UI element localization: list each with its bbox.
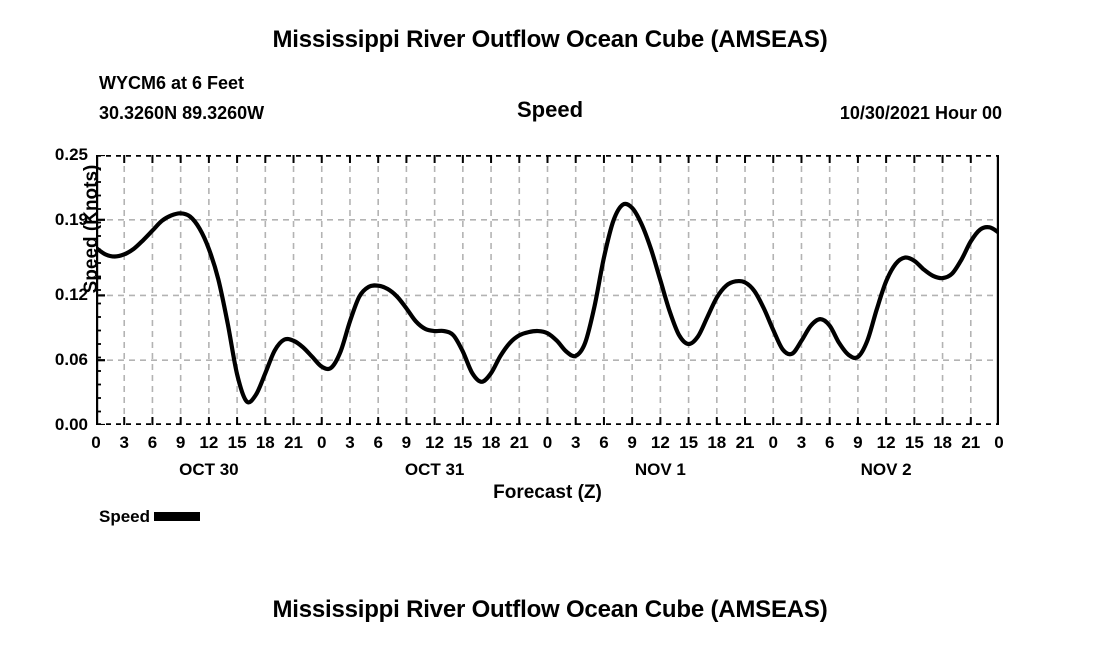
top-axis-ticks <box>96 155 999 163</box>
y-axis-tick-label: 0.06 <box>24 351 88 368</box>
page-title: Mississippi River Outflow Ocean Cube (AM… <box>0 26 1100 54</box>
y-axis-tick-label: 0.25 <box>24 146 88 163</box>
footer-title: Mississippi River Outflow Ocean Cube (AM… <box>0 596 1100 624</box>
x-axis-title: Forecast (Z) <box>96 482 999 504</box>
y-axis-tick-labels: 0.000.060.120.190.25 <box>20 155 88 425</box>
x-axis-day-label: OCT 31 <box>365 461 505 478</box>
x-axis-tick-label: 0 <box>979 434 1019 451</box>
chart-page: Mississippi River Outflow Ocean Cube (AM… <box>0 0 1100 650</box>
left-axis-ticks <box>96 155 105 425</box>
legend: Speed <box>99 508 200 525</box>
y-axis-tick-label: 0.12 <box>24 286 88 303</box>
legend-swatch <box>154 512 200 521</box>
x-axis-day-label: NOV 2 <box>816 461 956 478</box>
y-axis-tick-label: 0.19 <box>24 211 88 228</box>
y-axis-tick-label: 0.00 <box>24 416 88 433</box>
legend-label: Speed <box>99 508 150 525</box>
x-axis-tick-labels: 0369121518210369121518210369121518210369… <box>96 434 999 458</box>
plot-area <box>96 155 999 425</box>
x-axis-day-label: OCT 30 <box>139 461 279 478</box>
model-run-time: 10/30/2021 Hour 00 <box>840 103 1002 124</box>
x-axis-day-label: NOV 1 <box>590 461 730 478</box>
bottom-axis-ticks <box>96 417 999 425</box>
speed-line-chart <box>96 155 999 425</box>
station-label: WYCM6 at 6 Feet <box>99 73 244 94</box>
vertical-gridlines <box>124 155 971 425</box>
